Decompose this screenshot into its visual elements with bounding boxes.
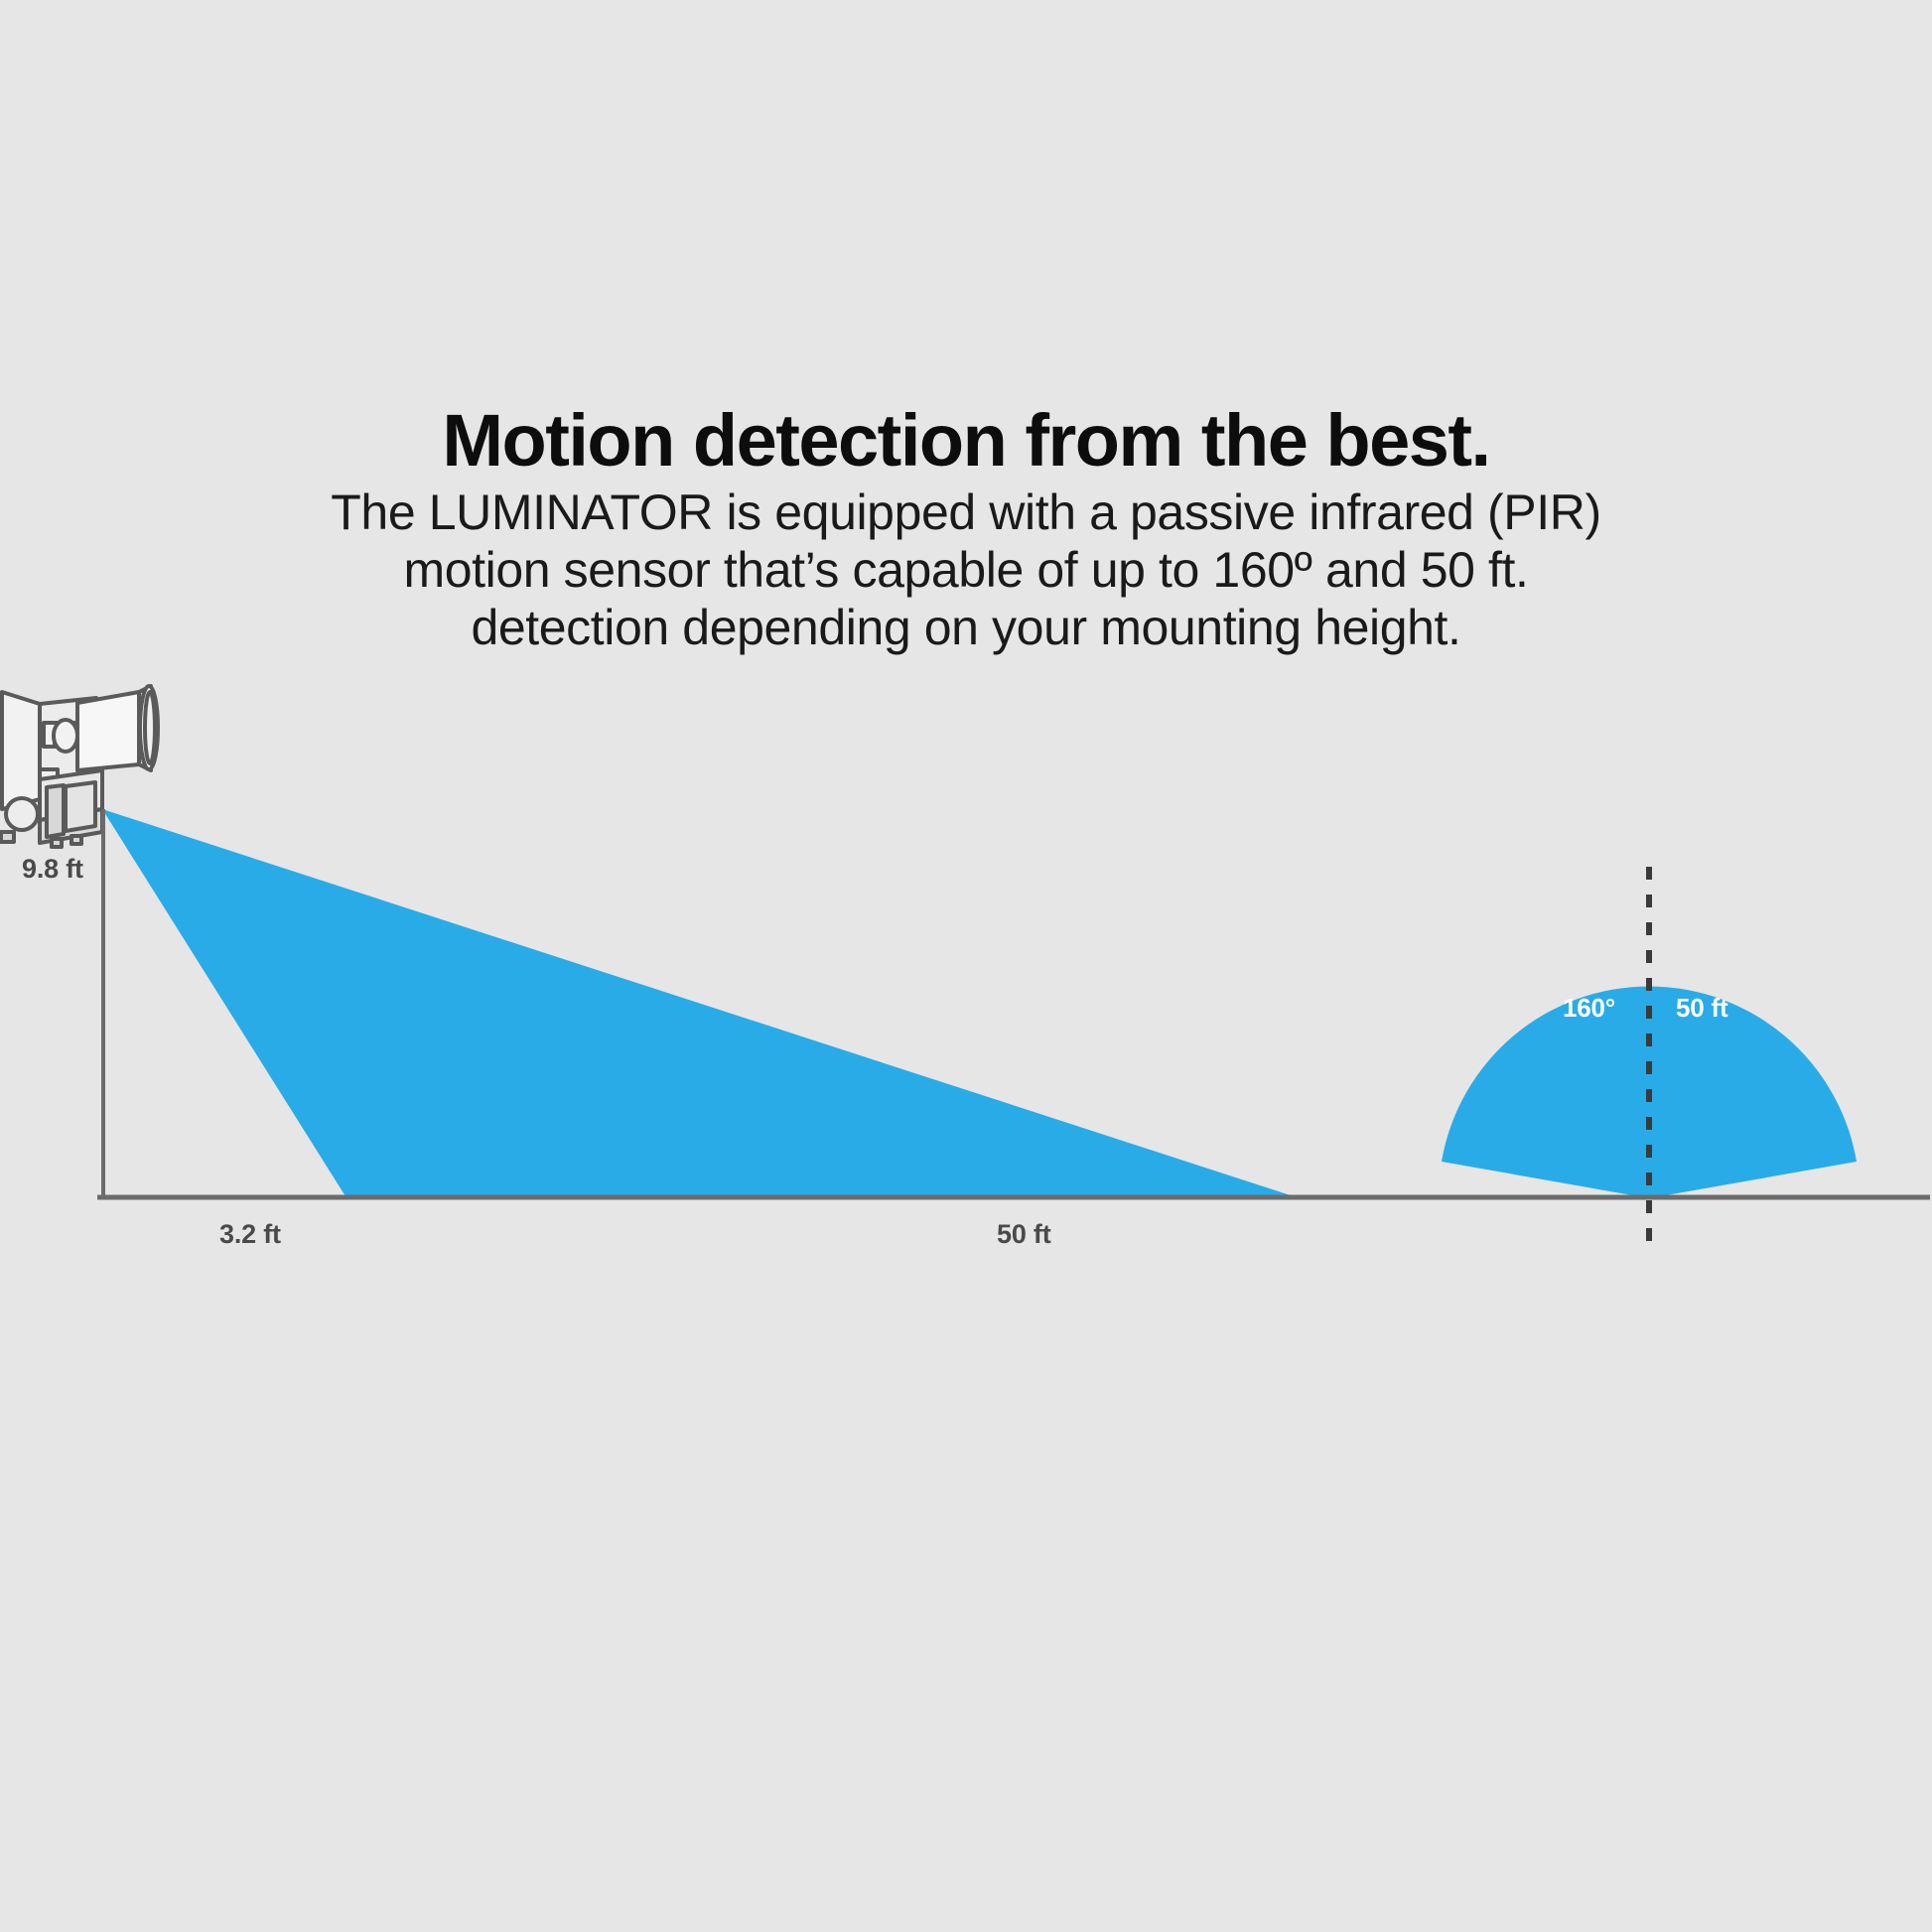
far-detection-label: 50 ft [997,1219,1051,1250]
detection-radius-label: 50 ft [1676,993,1727,1024]
mounting-height-label: 9.8 ft [22,854,83,885]
near-detection-label: 3.2 ft [219,1219,281,1250]
diagram-canvas: Motion detection from the best. The LUMI… [0,0,1932,1932]
detection-wedge-side [102,809,1294,1196]
detection-angle-label: 160° [1563,993,1615,1024]
detection-diagram [0,0,1932,1932]
